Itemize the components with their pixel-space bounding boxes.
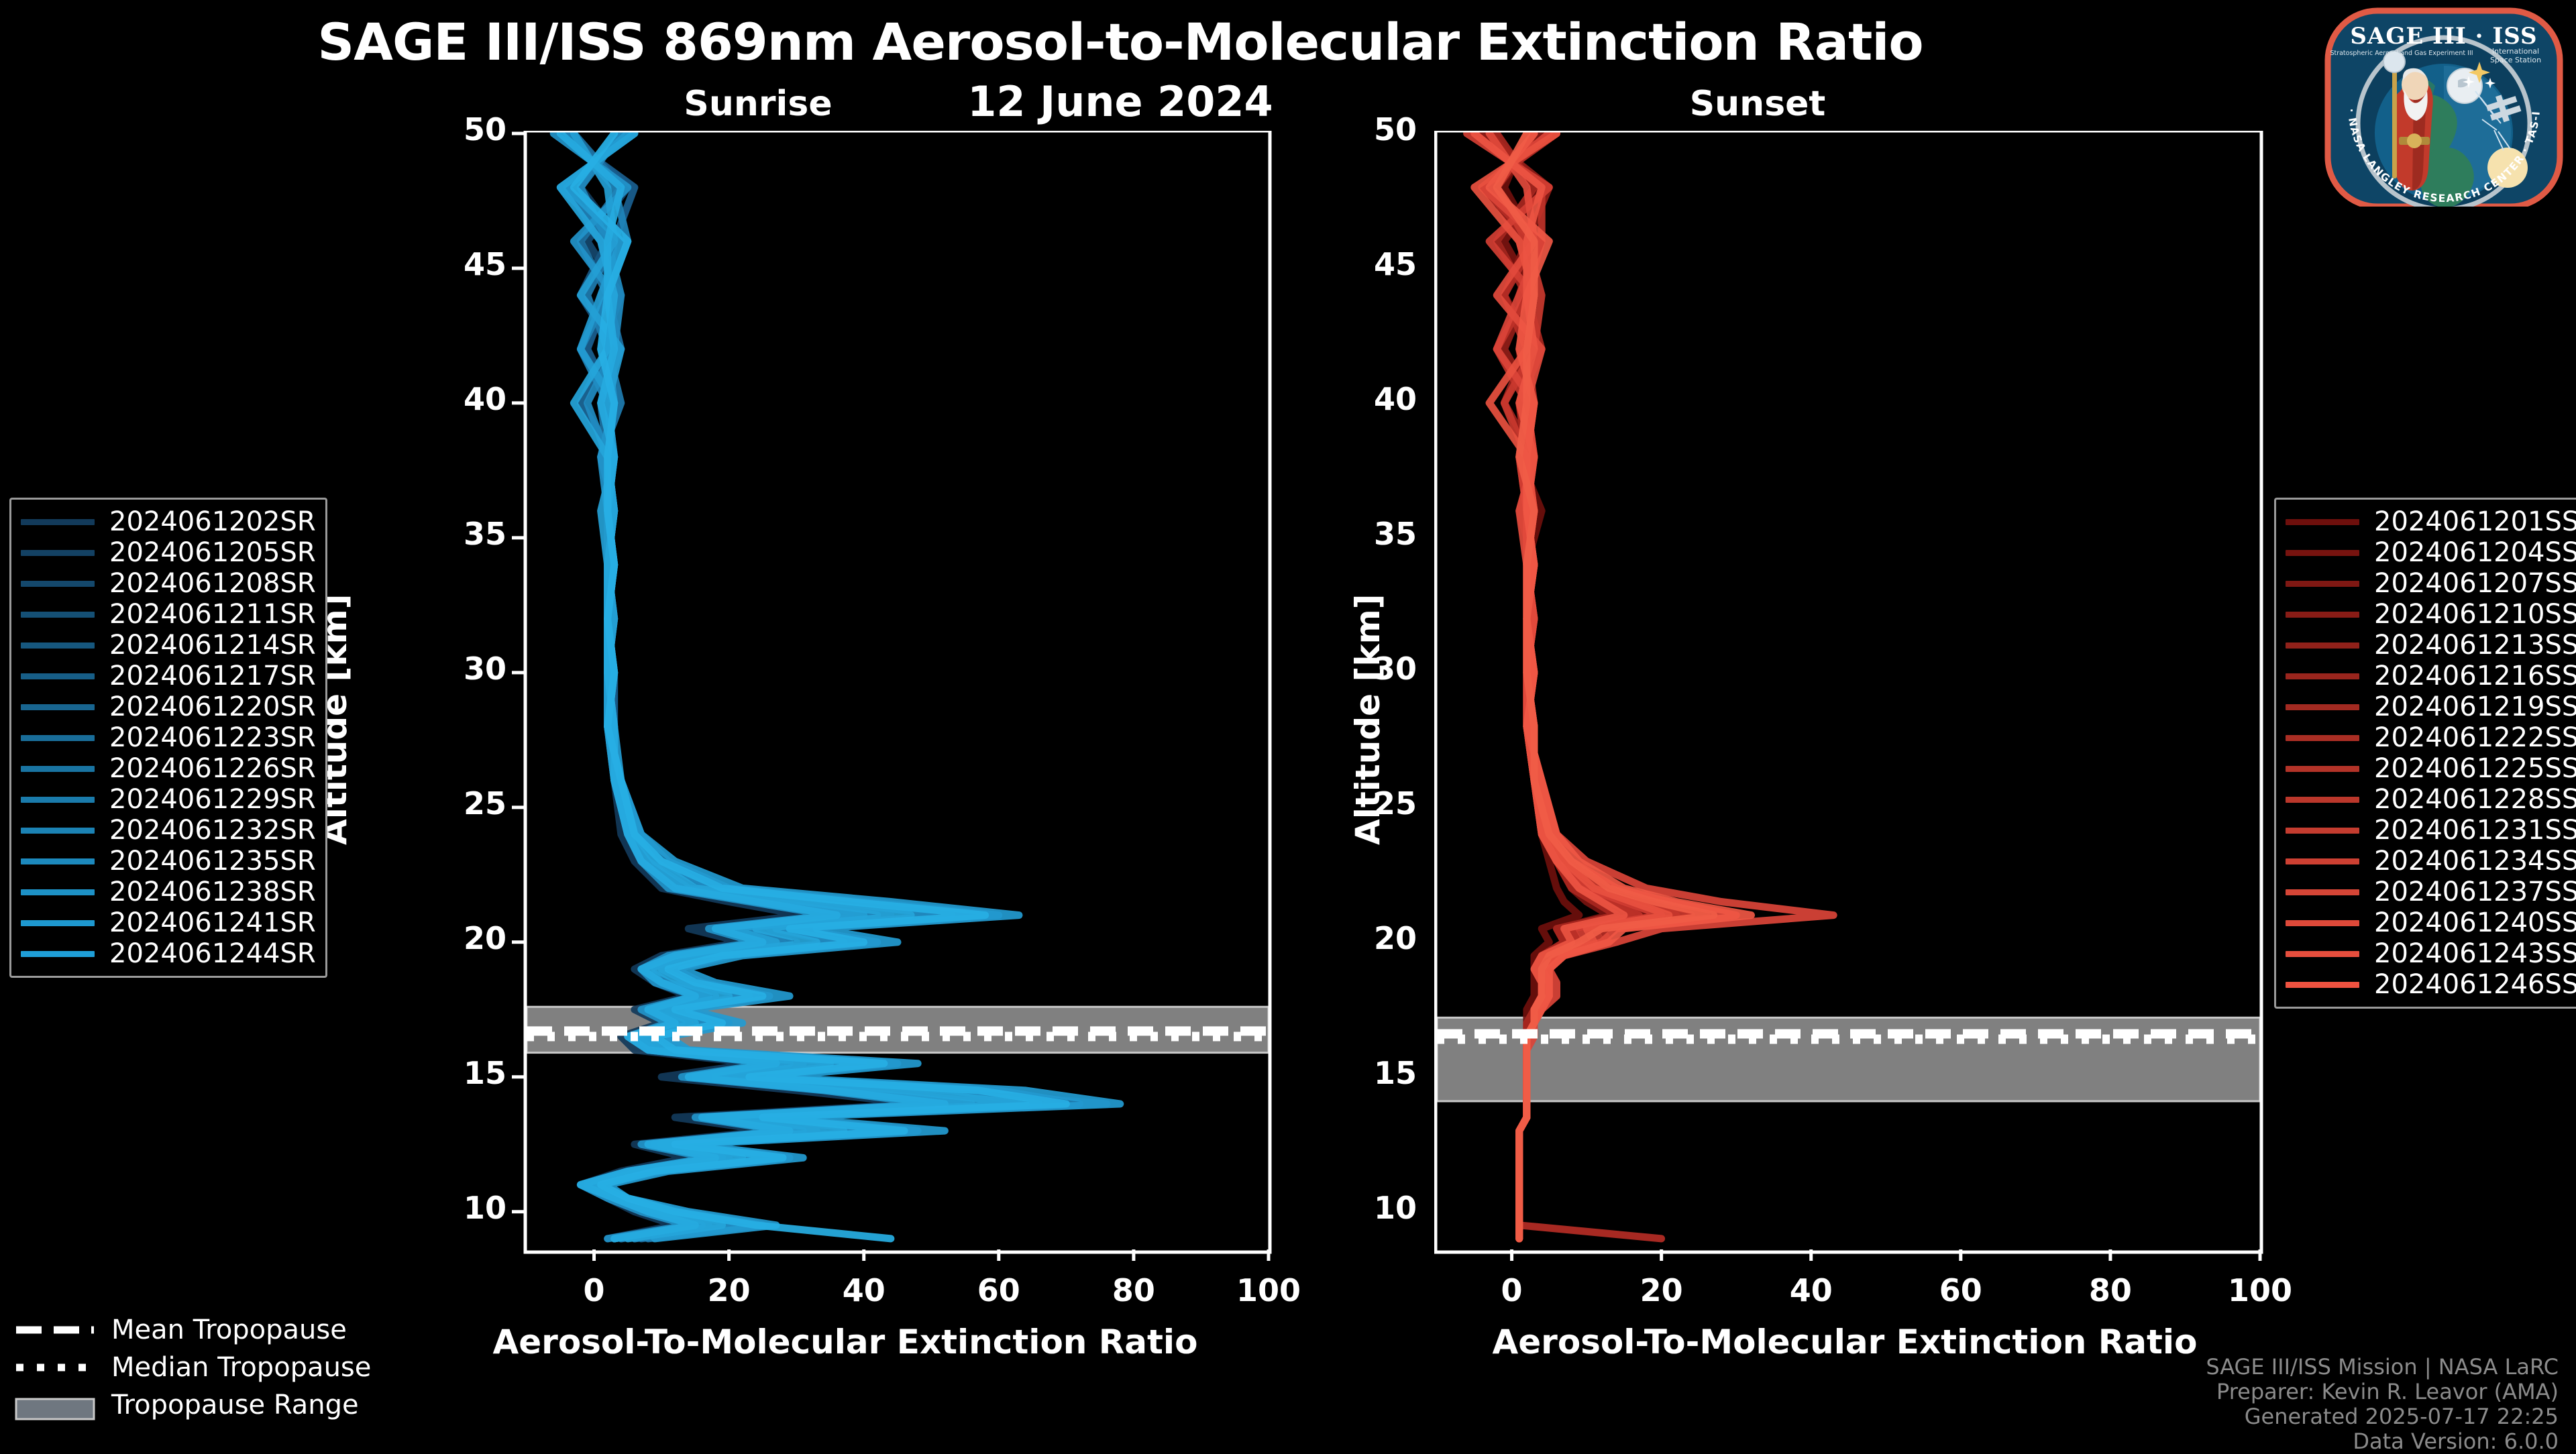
profile-line — [574, 133, 1066, 1239]
legend-item-label: 2024061240SS — [2374, 907, 2576, 938]
x-axis-title-sunrise: Aerosol-To-Molecular Extinction Ratio — [416, 1323, 1275, 1361]
x-tick-label: 60 — [925, 1272, 1073, 1308]
legend-item[interactable]: 2024061241SR — [21, 907, 316, 938]
legend-swatch — [2286, 581, 2359, 587]
legend-item[interactable]: 2024061220SR — [21, 691, 316, 722]
legend-item-label: 2024061238SR — [109, 877, 316, 907]
legend-item-label: 2024061217SR — [109, 661, 316, 691]
credits-line-mission: SAGE III/ISS Mission | NASA LaRC — [2206, 1355, 2559, 1380]
tropopause-legend-row-median: Median Tropopause — [15, 1349, 371, 1386]
sage-iii-iss-logo: SAGE III · ISS Stratospheric Aerosol and… — [2321, 5, 2567, 207]
legend-item-label: 2024061214SR — [109, 630, 316, 661]
legend-item-label: 2024061205SR — [109, 537, 316, 568]
logo-subtitle-right-2: Space Station — [2490, 56, 2541, 64]
y-tick-label: 50 — [392, 111, 506, 148]
legend-item[interactable]: 2024061243SS — [2286, 938, 2576, 969]
logo-title: SAGE III · ISS — [2350, 23, 2537, 50]
legend-item[interactable]: 2024061235SR — [21, 846, 316, 877]
x-axis-title-sunset: Aerosol-To-Molecular Extinction Ratio — [1409, 1323, 2281, 1361]
credits-line-preparer: Preparer: Kevin R. Leavor (AMA) — [2206, 1380, 2559, 1404]
mean-tropopause-icon — [15, 1323, 95, 1337]
legend-item[interactable]: 2024061204SS — [2286, 537, 2576, 568]
mean-tropopause-label: Mean Tropopause — [111, 1315, 347, 1345]
legend-item[interactable]: 2024061216SS — [2286, 661, 2576, 691]
x-tick-label: 100 — [2186, 1272, 2334, 1308]
y-tick-label: 10 — [392, 1190, 506, 1226]
tropopause-range-label: Tropopause Range — [111, 1390, 359, 1420]
legend-swatch — [2286, 673, 2359, 679]
legend-item[interactable]: 2024061219SS — [2286, 691, 2576, 722]
legend-swatch — [21, 920, 95, 926]
legend-swatch — [2286, 858, 2359, 864]
legend-swatch — [21, 519, 95, 525]
legend-swatch — [2286, 828, 2359, 834]
y-tick-label: 25 — [1303, 785, 1417, 822]
legend-swatch — [21, 642, 95, 649]
legend-sunset[interactable]: 2024061201SS2024061204SS2024061207SS2024… — [2274, 498, 2576, 1009]
legend-item-label: 2024061225SS — [2374, 753, 2576, 784]
legend-swatch — [21, 612, 95, 618]
legend-swatch — [21, 550, 95, 556]
y-tick-label: 10 — [1303, 1190, 1417, 1226]
y-axis-title-sunrise: Altitude [km] — [315, 845, 567, 884]
x-tick-label: 60 — [1887, 1272, 2035, 1308]
legend-item[interactable]: 2024061246SS — [2286, 969, 2576, 1000]
legend-swatch — [2286, 766, 2359, 772]
logo-subtitle-right-1: International — [2492, 47, 2539, 56]
legend-swatch — [2286, 735, 2359, 741]
legend-item-label: 2024061228SS — [2374, 784, 2576, 815]
page-title: SAGE III/ISS 869nm Aerosol-to-Molecular … — [0, 12, 2241, 72]
legend-item-label: 2024061211SR — [109, 599, 316, 630]
x-tick-label: 80 — [1060, 1272, 1207, 1308]
legend-item-label: 2024061201SS — [2374, 506, 2576, 537]
x-tick-label: 0 — [521, 1272, 668, 1308]
credits-line-generated: Generated 2025-07-17 22:25 — [2206, 1404, 2559, 1429]
legend-swatch — [21, 889, 95, 895]
legend-item[interactable]: 2024061244SR — [21, 938, 316, 969]
legend-item[interactable]: 2024061214SR — [21, 630, 316, 661]
legend-item-label: 2024061235SR — [109, 846, 316, 877]
plot-sunrise — [402, 131, 1275, 1261]
legend-swatch — [2286, 797, 2359, 803]
median-tropopause-label: Median Tropopause — [111, 1352, 371, 1383]
legend-item[interactable]: 2024061217SR — [21, 661, 316, 691]
legend-item[interactable]: 2024061210SS — [2286, 599, 2576, 630]
tropopause-legend-row-range: Tropopause Range — [15, 1386, 371, 1424]
y-tick-label: 25 — [392, 785, 506, 822]
legend-item[interactable]: 2024061201SS — [2286, 506, 2576, 537]
legend-swatch — [2286, 951, 2359, 957]
x-tick-label: 20 — [1588, 1272, 1735, 1308]
x-tick-label: 20 — [655, 1272, 803, 1308]
legend-item[interactable]: 2024061238SR — [21, 877, 316, 907]
y-tick-label: 35 — [392, 516, 506, 552]
y-tick-label: 40 — [392, 381, 506, 417]
profile-line — [567, 133, 1120, 1239]
legend-item-label: 2024061219SS — [2374, 691, 2576, 722]
legend-swatch — [21, 951, 95, 957]
legend-item[interactable]: 2024061225SS — [2286, 753, 2576, 784]
legend-swatch — [2286, 889, 2359, 895]
credits-block: SAGE III/ISS Mission | NASA LaRC Prepare… — [2206, 1355, 2559, 1454]
plot-area-sunrise — [402, 131, 1275, 1261]
legend-item-label: 2024061216SS — [2374, 661, 2576, 691]
legend-swatch — [2286, 519, 2359, 525]
panel-label-sunrise: Sunrise — [624, 84, 892, 124]
legend-item-label: 2024061232SR — [109, 815, 316, 846]
y-tick-label: 40 — [1303, 381, 1417, 417]
y-axis-title-sunset: Altitude [km] — [1348, 845, 1600, 884]
legend-swatch — [2286, 612, 2359, 618]
legend-item-label: 2024061229SR — [109, 784, 316, 815]
legend-item-label: 2024061210SS — [2374, 599, 2576, 630]
tropopause-legend-row-mean: Mean Tropopause — [15, 1311, 371, 1349]
legend-item-label: 2024061244SR — [109, 938, 316, 969]
legend-item-label: 2024061234SS — [2374, 846, 2576, 877]
y-tick-label: 30 — [392, 651, 506, 687]
x-tick-label: 0 — [1438, 1272, 1586, 1308]
y-tick-label: 45 — [1303, 246, 1417, 282]
legend-item[interactable]: 2024061240SS — [2286, 907, 2576, 938]
legend-item-label: 2024061246SS — [2374, 969, 2576, 1000]
plot-sunset — [1434, 131, 2266, 1261]
legend-item[interactable]: 2024061208SR — [21, 568, 316, 599]
y-tick-label: 15 — [1303, 1055, 1417, 1091]
x-tick-label: 100 — [1195, 1272, 1342, 1308]
legend-item-label: 2024061208SR — [109, 568, 316, 599]
legend-item-label: 2024061213SS — [2374, 630, 2576, 661]
legend-item-label: 2024061207SS — [2374, 568, 2576, 599]
legend-swatch — [21, 797, 95, 803]
legend-item-label: 2024061226SR — [109, 753, 316, 784]
tropopause-range-icon — [15, 1398, 95, 1412]
legend-item-label: 2024061243SS — [2374, 938, 2576, 969]
legend-item-label: 2024061237SS — [2374, 877, 2576, 907]
legend-swatch — [21, 858, 95, 864]
y-tick-label: 45 — [392, 246, 506, 282]
legend-item-label: 2024061220SR — [109, 691, 316, 722]
legend-sunrise[interactable]: 2024061202SR2024061205SR2024061208SR2024… — [9, 498, 327, 978]
legend-item[interactable]: 2024061205SR — [21, 537, 316, 568]
legend-item[interactable]: 2024061223SR — [21, 722, 316, 753]
legend-item[interactable]: 2024061231SS — [2286, 815, 2576, 846]
legend-item[interactable]: 2024061237SS — [2286, 877, 2576, 907]
legend-swatch — [21, 828, 95, 834]
legend-item-label: 2024061241SR — [109, 907, 316, 938]
y-tick-label: 35 — [1303, 516, 1417, 552]
legend-item[interactable]: 2024061234SS — [2286, 846, 2576, 877]
legend-swatch — [2286, 982, 2359, 988]
x-tick-label: 40 — [790, 1272, 938, 1308]
legend-item[interactable]: 2024061232SR — [21, 815, 316, 846]
legend-item[interactable]: 2024061226SR — [21, 753, 316, 784]
y-tick-label: 30 — [1303, 651, 1417, 687]
panel-label-sunset: Sunset — [1623, 84, 1892, 124]
plot-area-sunset — [1434, 131, 2266, 1261]
legend-item-label: 2024061223SR — [109, 722, 316, 753]
legend-item[interactable]: 2024061222SS — [2286, 722, 2576, 753]
legend-item[interactable]: 2024061229SR — [21, 784, 316, 815]
y-tick-label: 20 — [392, 920, 506, 956]
legend-item[interactable]: 2024061211SR — [21, 599, 316, 630]
legend-swatch — [21, 766, 95, 772]
legend-item[interactable]: 2024061207SS — [2286, 568, 2576, 599]
legend-item[interactable]: 2024061202SR — [21, 506, 316, 537]
legend-swatch — [21, 704, 95, 710]
tropopause-legend: Mean Tropopause Median Tropopause Tropop… — [15, 1311, 371, 1424]
legend-swatch — [2286, 704, 2359, 710]
legend-swatch — [2286, 550, 2359, 556]
legend-item[interactable]: 2024061228SS — [2286, 784, 2576, 815]
legend-item-label: 2024061202SR — [109, 506, 316, 537]
credits-line-version: Data Version: 6.0.0 — [2206, 1429, 2559, 1454]
y-tick-label: 20 — [1303, 920, 1417, 956]
page-subtitle-date: 12 June 2024 — [0, 77, 2241, 126]
legend-item-label: 2024061222SS — [2374, 722, 2576, 753]
series-group-sunrise — [553, 133, 1120, 1239]
legend-swatch — [21, 735, 95, 741]
median-tropopause-icon — [15, 1360, 95, 1375]
y-tick-label: 50 — [1303, 111, 1417, 148]
logo-subtitle-left: Stratospheric Aerosol and Gas Experiment… — [2330, 50, 2473, 57]
legend-swatch — [2286, 642, 2359, 649]
legend-swatch — [21, 673, 95, 679]
legend-item-label: 2024061231SS — [2374, 815, 2576, 846]
legend-swatch — [21, 581, 95, 587]
x-tick-label: 40 — [1737, 1272, 1885, 1308]
x-tick-label: 80 — [2037, 1272, 2184, 1308]
legend-item-label: 2024061204SS — [2374, 537, 2576, 568]
y-tick-label: 15 — [392, 1055, 506, 1091]
legend-swatch — [2286, 920, 2359, 926]
legend-item[interactable]: 2024061213SS — [2286, 630, 2576, 661]
